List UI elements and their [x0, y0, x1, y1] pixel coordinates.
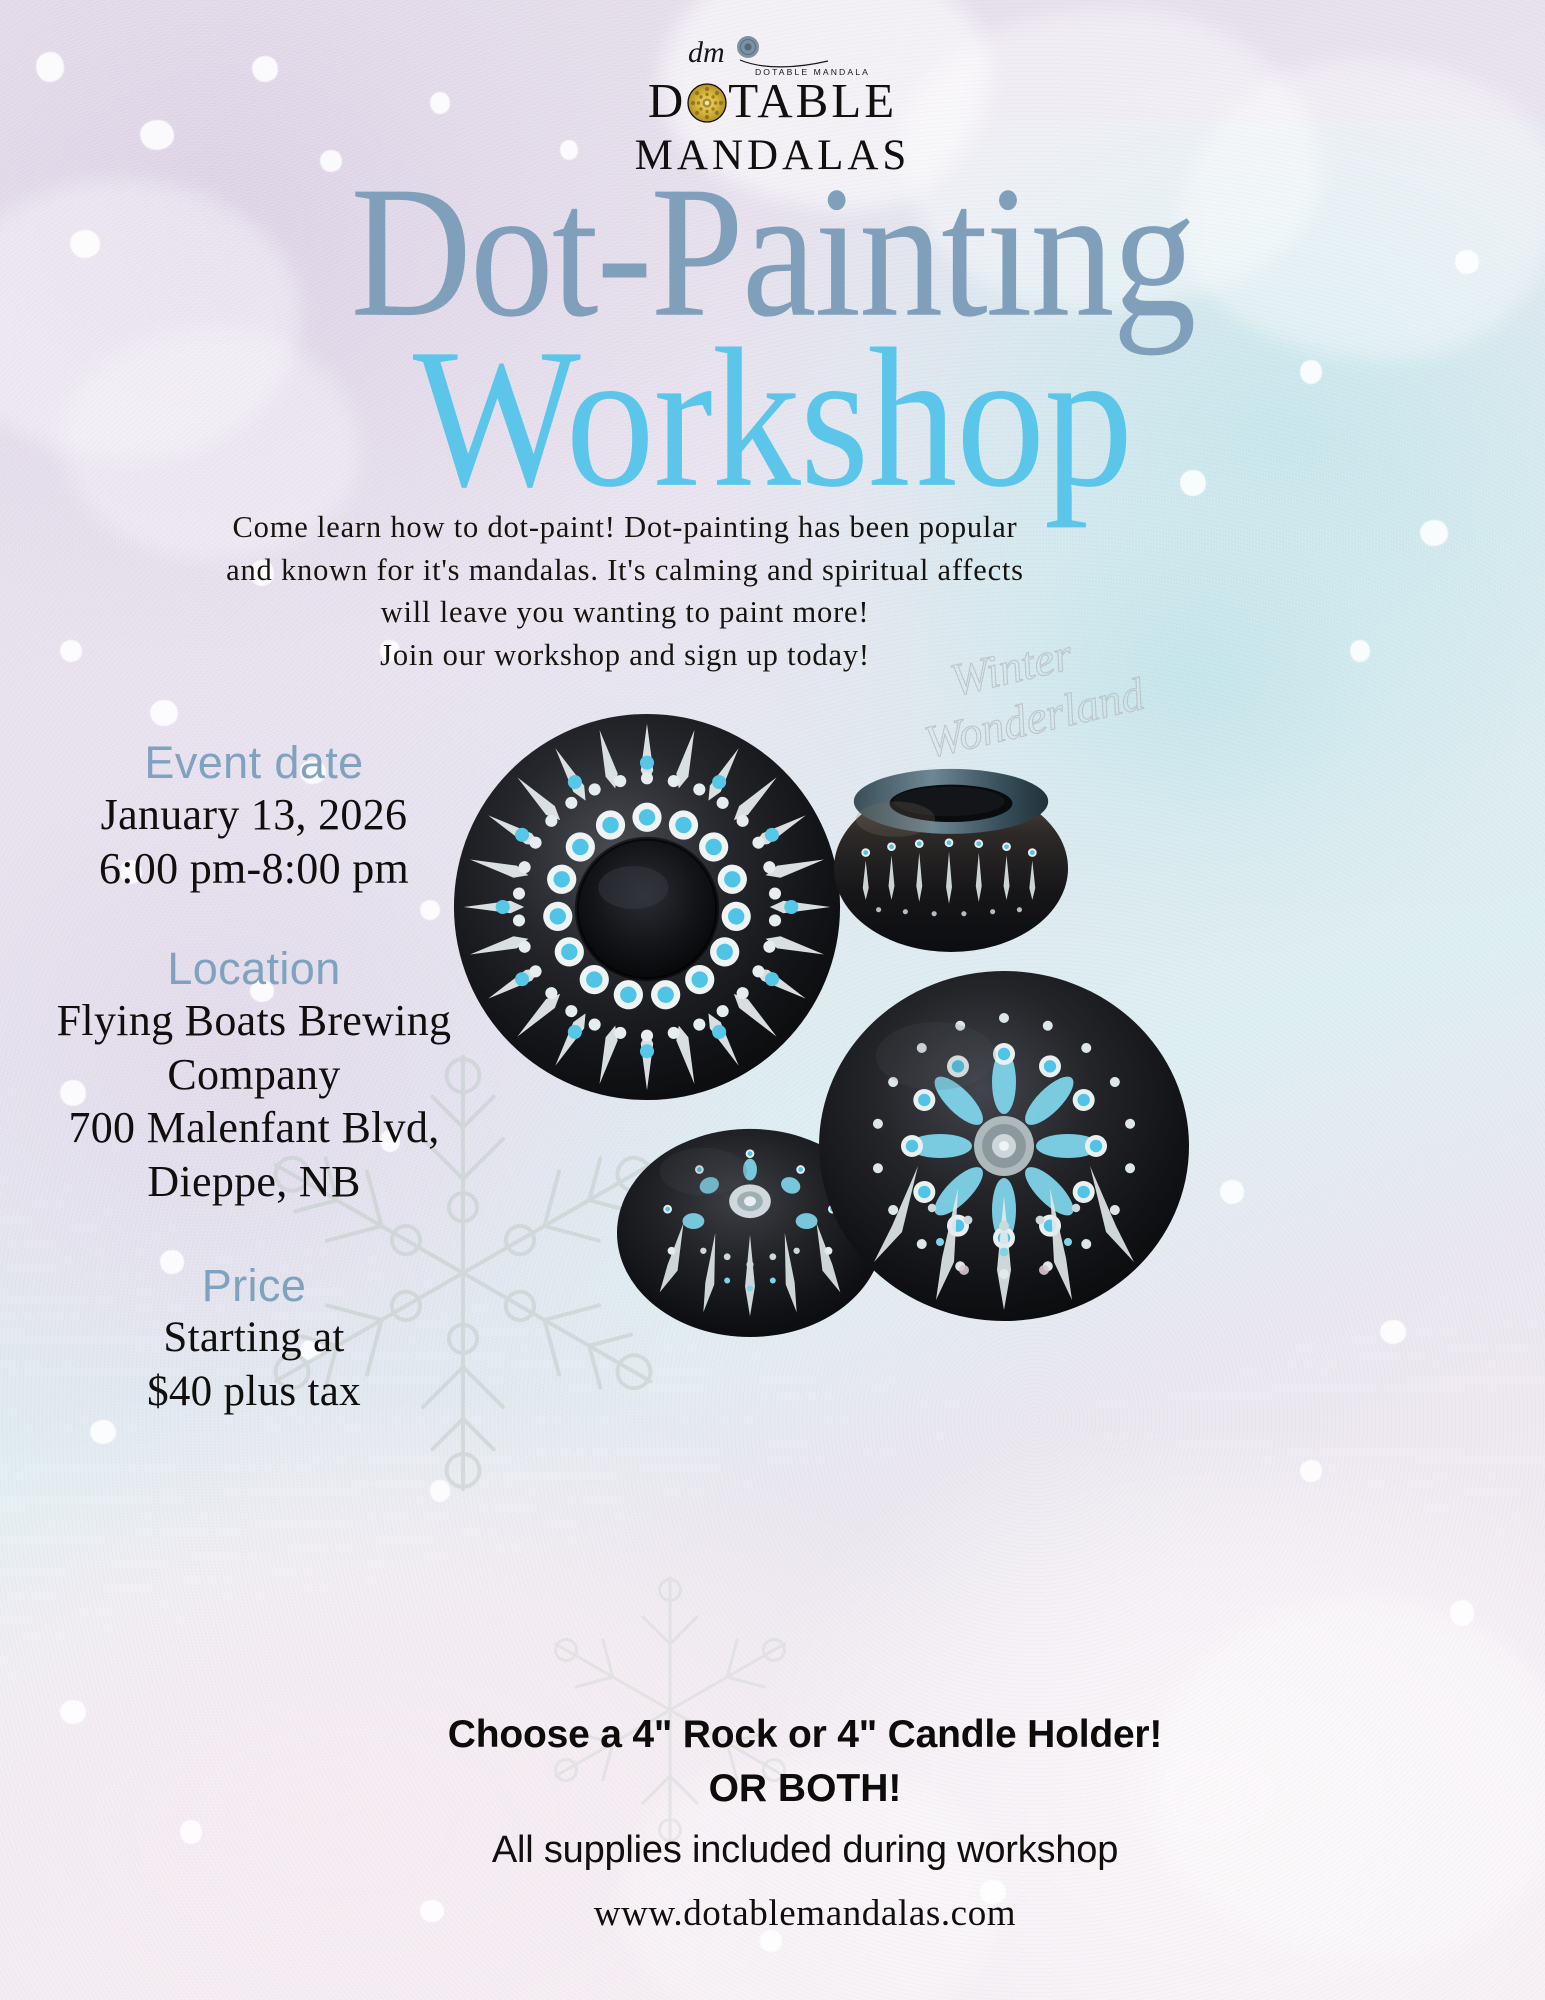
brand-wordmark-line1: DTABLE — [0, 76, 1545, 125]
event-date-value-line1: January 13, 2026 — [28, 788, 480, 842]
call-to-action: Choose a 4" Rock or 4" Candle Holder! OR… — [300, 1712, 1310, 1938]
snow-fleck — [1220, 1180, 1244, 1204]
location-venue-line1: Flying Boats Brewing — [28, 994, 480, 1048]
event-date-value-line2: 6:00 pm-8:00 pm — [28, 842, 480, 896]
gold-mandala-icon — [687, 82, 727, 122]
snow-fleck — [430, 1480, 450, 1502]
svg-text:DOTABLE MANDALAS: DOTABLE MANDALAS — [755, 67, 868, 77]
snow-fleck — [1380, 1320, 1406, 1344]
mandala-candle-holder-lid-photo — [452, 712, 842, 1102]
event-details: Event date January 13, 2026 6:00 pm-8:00… — [28, 738, 480, 1420]
cta-supplies-line: All supplies included during workshop — [300, 1826, 1310, 1875]
event-date-label: Event date — [28, 738, 480, 788]
location-label: Location — [28, 944, 480, 994]
event-location-block: Location Flying Boats Brewing Company 70… — [28, 944, 480, 1209]
snow-fleck — [1450, 1600, 1474, 1626]
snow-fleck — [1420, 520, 1448, 546]
event-date-block: Event date January 13, 2026 6:00 pm-8:00… — [28, 738, 480, 896]
snow-fleck — [150, 700, 178, 726]
cta-or-both-line: OR BOTH! — [300, 1763, 1310, 1814]
snow-fleck — [1350, 640, 1370, 662]
brand-wordmark-table: TABLE — [728, 73, 897, 128]
location-address-line2: Dieppe, NB — [28, 1155, 480, 1209]
brand-wordmark-d: D — [648, 73, 686, 128]
snow-fleck — [60, 1700, 86, 1724]
dm-monogram-icon: dm DOTABLE MANDALAS — [678, 34, 868, 78]
location-address-line1: 700 Malenfant Blvd, — [28, 1101, 480, 1155]
cta-option-line: Choose a 4" Rock or 4" Candle Holder! — [300, 1712, 1310, 1759]
snow-fleck — [1300, 1460, 1322, 1482]
poster-canvas: dm DOTABLE MANDALAS DTABLE MANDALAS Dot-… — [0, 0, 1545, 2000]
snow-fleck — [60, 640, 82, 662]
intro-paragraph: Come learn how to dot-paint! Dot-paintin… — [225, 506, 1025, 677]
event-price-block: Price Starting at $40 plus tax — [28, 1261, 480, 1420]
price-value-line1: Starting at — [28, 1311, 480, 1365]
snow-fleck — [180, 1820, 202, 1844]
snow-fleck — [90, 1420, 116, 1444]
mandala-rock-large-photo — [818, 970, 1190, 1322]
price-value-line2: $40 plus tax — [28, 1365, 480, 1419]
svg-text:dm: dm — [688, 36, 725, 69]
location-venue-line2: Company — [28, 1048, 480, 1102]
mandala-candle-holder-side-photo — [832, 762, 1070, 954]
brand-script-mark: dm DOTABLE MANDALAS — [0, 34, 1545, 78]
price-label: Price — [28, 1261, 480, 1311]
website-url[interactable]: www.dotablemandalas.com — [300, 1890, 1310, 1938]
page-title-line2: Workshop — [0, 318, 1545, 517]
